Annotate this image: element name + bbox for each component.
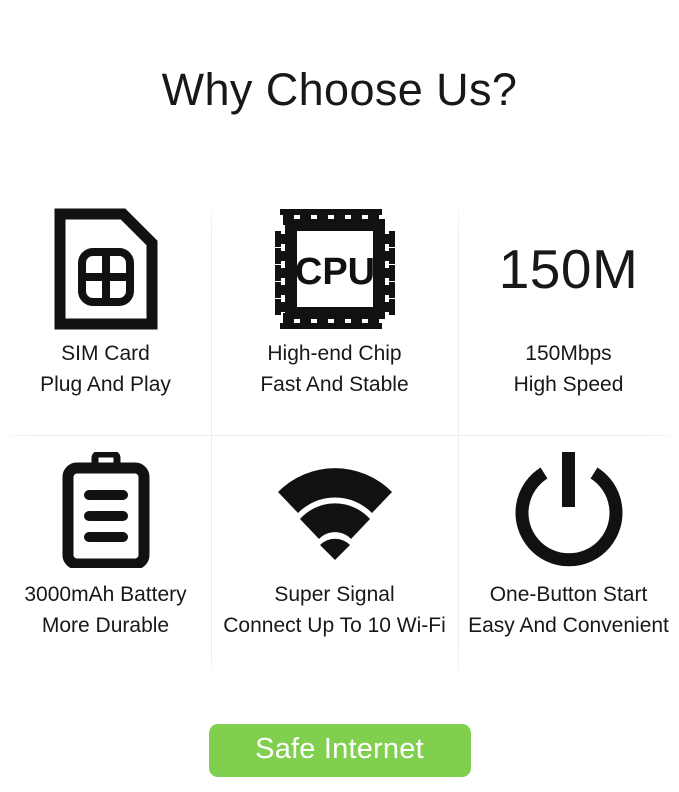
feature-line2: More Durable (24, 610, 186, 641)
feature-super-signal-text: Super Signal Connect Up To 10 Wi-Fi (223, 579, 446, 641)
feature-high-end-chip: CPU High-end Chip Fast And Stable (211, 200, 458, 441)
feature-high-end-chip-text: High-end Chip Fast And Stable (260, 338, 408, 400)
feature-sim-card: SIM Card Plug And Play (0, 200, 211, 441)
wifi-signal-icon (272, 441, 398, 579)
feature-line2: Easy And Convenient (468, 610, 669, 641)
grid-divider-horizontal (0, 435, 679, 436)
feature-row-top: SIM Card Plug And Play (0, 200, 679, 441)
feature-line1: Super Signal (274, 583, 394, 606)
grid-divider-vertical-right (458, 203, 459, 681)
cpu-chip-icon: CPU (273, 200, 397, 338)
feature-grid: SIM Card Plug And Play (0, 200, 679, 682)
feature-battery: 3000mAh Battery More Durable (0, 441, 211, 682)
feature-super-signal: Super Signal Connect Up To 10 Wi-Fi (211, 441, 458, 682)
sim-card-icon (54, 200, 158, 338)
feature-line1: 3000mAh Battery (24, 583, 186, 606)
promo-page: Why Choose Us? SIM Card Plug And (0, 0, 679, 792)
feature-row-bottom: 3000mAh Battery More Durable Super Signa… (0, 441, 679, 682)
feature-battery-text: 3000mAh Battery More Durable (24, 579, 186, 641)
feature-line2: Fast And Stable (260, 369, 408, 400)
cta-container: Safe Internet (0, 724, 679, 777)
feature-line1: One-Button Start (490, 583, 648, 606)
battery-icon (60, 441, 152, 579)
grid-divider-vertical-left (211, 203, 212, 681)
feature-line1: High-end Chip (267, 342, 401, 365)
feature-sim-card-text: SIM Card Plug And Play (40, 338, 171, 400)
feature-one-button-start-text: One-Button Start Easy And Convenient (468, 579, 669, 641)
speed-value: 150M (499, 242, 639, 297)
power-button-icon (511, 441, 627, 579)
feature-line2: Connect Up To 10 Wi-Fi (223, 610, 446, 641)
speed-text-150m: 150M (499, 200, 639, 338)
feature-line1: SIM Card (61, 342, 150, 365)
feature-one-button-start: One-Button Start Easy And Convenient (458, 441, 679, 682)
feature-high-speed-text: 150Mbps High Speed (514, 338, 624, 400)
feature-line2: High Speed (514, 369, 624, 400)
page-title: Why Choose Us? (0, 64, 679, 116)
safe-internet-button[interactable]: Safe Internet (209, 724, 471, 777)
cpu-label: CPU (294, 251, 374, 293)
feature-line2: Plug And Play (40, 369, 171, 400)
feature-line1: 150Mbps (525, 342, 611, 365)
feature-high-speed: 150M 150Mbps High Speed (458, 200, 679, 441)
